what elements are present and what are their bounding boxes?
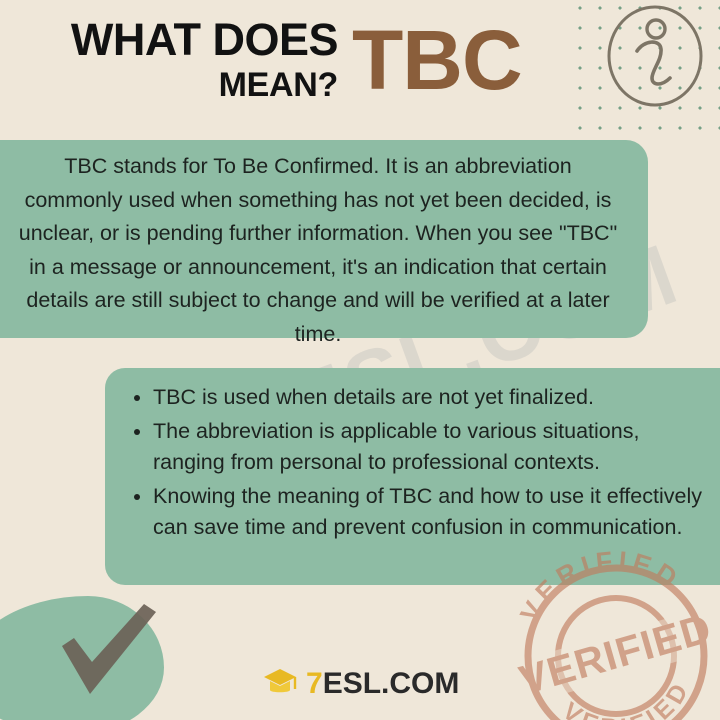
logo-rest: ESL.COM bbox=[323, 667, 460, 700]
header-line-2: MEAN? bbox=[28, 66, 338, 104]
list-item: The abbreviation is applicable to variou… bbox=[153, 416, 716, 478]
check-mark-icon bbox=[52, 598, 168, 710]
header-line-1: WHAT DOES bbox=[28, 16, 338, 64]
infographic-poster: 7ESL.COM WHAT DOES MEAN? TBC TBC stands … bbox=[0, 0, 720, 720]
svg-text:VERIFIED: VERIFIED bbox=[557, 675, 696, 720]
definition-text: TBC stands for To Be Confirmed. It is an… bbox=[14, 150, 622, 351]
list-item: TBC is used when details are not yet fin… bbox=[153, 382, 716, 413]
logo-text: 7ESL.COM bbox=[306, 669, 459, 699]
list-item: Knowing the meaning of TBC and how to us… bbox=[153, 481, 716, 543]
info-circle-icon bbox=[604, 4, 706, 108]
key-points-list: TBC is used when details are not yet fin… bbox=[123, 382, 716, 543]
key-points-panel: TBC is used when details are not yet fin… bbox=[105, 368, 720, 585]
header-term: TBC bbox=[352, 12, 522, 108]
header-title-block: WHAT DOES MEAN? bbox=[28, 16, 338, 104]
svg-text:VERIFIED: VERIFIED bbox=[514, 605, 716, 704]
logo-seven: 7 bbox=[306, 667, 323, 700]
site-logo[interactable]: 7ESL.COM bbox=[262, 666, 459, 701]
graduation-cap-icon bbox=[262, 666, 298, 701]
definition-panel: TBC stands for To Be Confirmed. It is an… bbox=[0, 140, 648, 338]
poster-header: WHAT DOES MEAN? TBC bbox=[0, 0, 720, 132]
